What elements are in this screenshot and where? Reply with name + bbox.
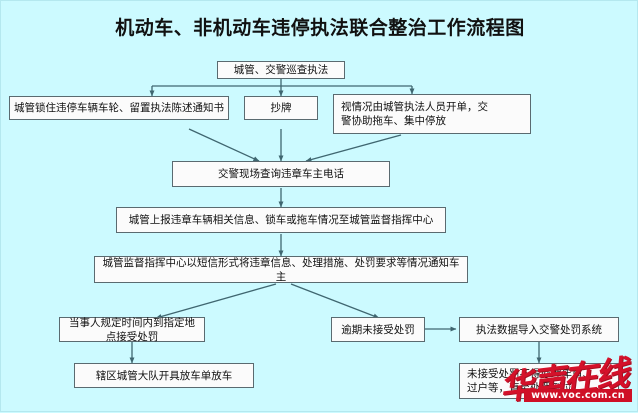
node-release-car[interactable]: 辖区城管大队开具放车单放车 xyxy=(74,363,254,388)
wire-sms-to-overdue xyxy=(291,284,379,318)
node-import-system[interactable]: 执法数据导入交警处罚系统 xyxy=(459,317,619,342)
page-title: 机动车、非机动车违停执法联合整治工作流程图 xyxy=(1,13,638,40)
node-copy-plate[interactable]: 抄牌 xyxy=(244,96,318,120)
node-lock-wheel[interactable]: 城管锁住违停车辆车轮、留置执法陈述通知书 xyxy=(9,96,229,120)
flowchart-canvas: 机动车、非机动车违停执法联合整治工作流程图 xyxy=(0,0,638,412)
wire-sms-to-accept xyxy=(156,284,276,318)
wire-tow-to-query xyxy=(306,135,401,161)
node-restrict[interactable]: 未接受处罚不得办理年审、 过户等，直至处罚到位 xyxy=(459,363,619,399)
node-sms-notify[interactable]: 城管监督指挥中心以短信形式将违章信息、处理措施、处罚要求等情况通知车主 xyxy=(94,256,468,283)
node-patrol[interactable]: 城管、交警巡查执法 xyxy=(217,61,345,79)
node-tow-line-1: 视情况由城管执法人员开单，交 xyxy=(341,100,526,114)
node-accept-penalty[interactable]: 当事人规定时间内到指定地点接受处罚 xyxy=(59,317,205,342)
node-tow-dispose[interactable]: 视情况由城管执法人员开单，交 警协助拖车、集中停放 xyxy=(333,94,531,134)
wire-lock-to-query xyxy=(189,129,259,161)
node-report-center[interactable]: 城管上报违章车辆相关信息、锁车或拖车情况至城管监督指挥中心 xyxy=(116,207,446,233)
node-query-phone[interactable]: 交警现场查询违章车主电话 xyxy=(172,161,390,187)
node-overdue[interactable]: 逾期未接受处罚 xyxy=(331,317,425,342)
node-tow-line-2: 警协助拖车、集中停放 xyxy=(341,114,526,128)
node-restrict-line-2: 过户等，直至处罚到位 xyxy=(467,381,614,395)
node-restrict-line-1: 未接受处罚不得办理年审、 xyxy=(467,367,614,381)
